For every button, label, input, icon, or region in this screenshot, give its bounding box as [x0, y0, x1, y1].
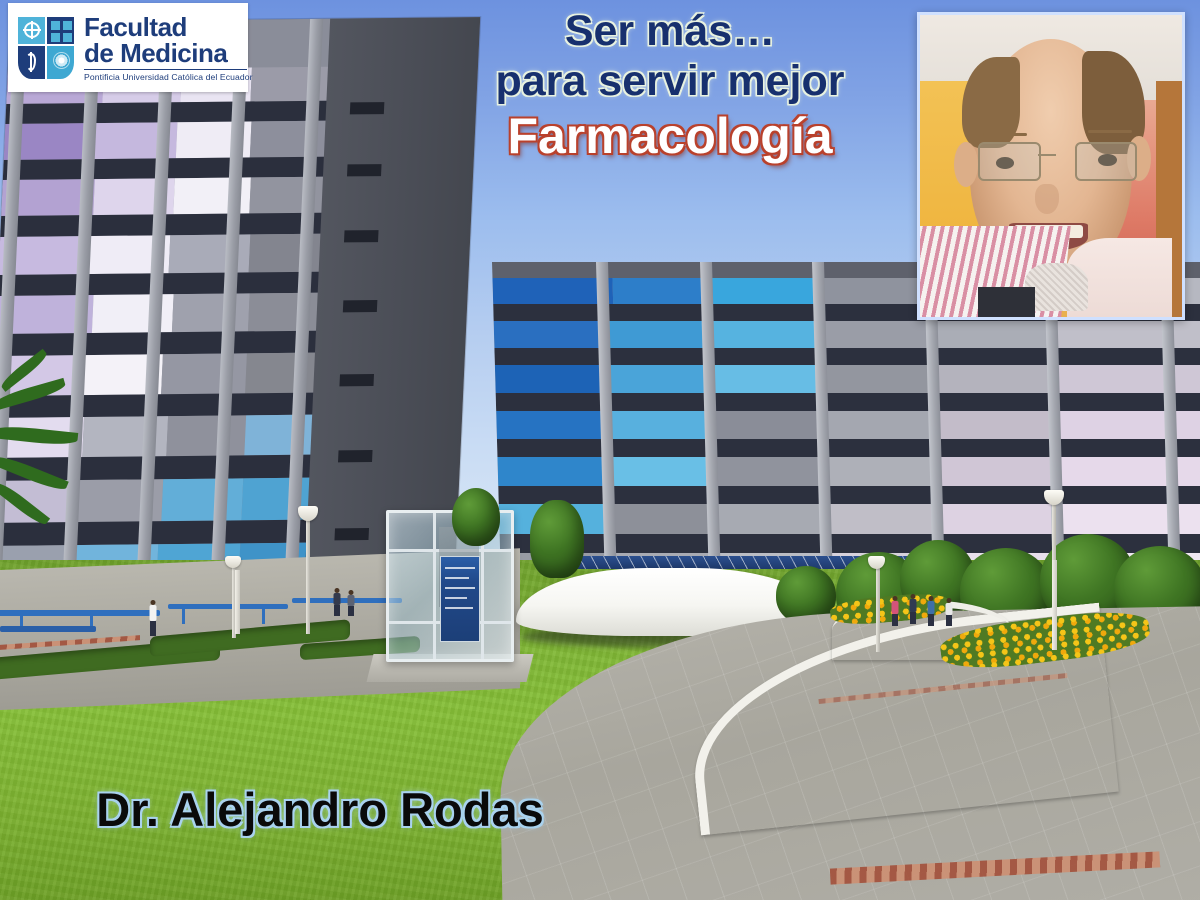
- pedestrian-legs: [334, 605, 340, 616]
- side-window: [339, 374, 374, 386]
- pedestrian: [346, 590, 355, 618]
- faculty-logo: Facultad de Medicina Pontificia Universi…: [8, 3, 248, 92]
- facade-panel: [713, 365, 826, 393]
- subject-title: Farmacología: [440, 109, 900, 163]
- author-name: Dr. Alejandro Rodas: [0, 786, 640, 833]
- asclepius-snake-icon: [26, 53, 36, 71]
- pedestrian: [332, 588, 341, 618]
- campus-directory-sign[interactable]: [440, 556, 480, 642]
- facade-panel: [495, 365, 610, 393]
- facade-panel: [172, 293, 250, 332]
- plaza-railing: [0, 610, 160, 616]
- facade-band: [0, 234, 330, 275]
- portrait-eyebrow-left: [983, 133, 1028, 136]
- directory-line: [445, 577, 469, 579]
- railing-post: [262, 604, 265, 624]
- facade-band: [0, 293, 328, 334]
- facade-panel: [937, 365, 1058, 393]
- directory-line: [445, 567, 475, 569]
- pedestrian: [148, 600, 158, 640]
- four-squares-icon: [51, 33, 60, 42]
- facade-panel: [824, 321, 935, 348]
- flag-pole: [1052, 560, 1057, 650]
- facade-panel: [717, 504, 830, 534]
- facade-panel: [829, 504, 942, 534]
- facade-panel: [609, 365, 714, 393]
- pedestrian-body: [150, 605, 157, 621]
- facade-panel: [609, 504, 718, 534]
- facade-panel: [938, 411, 1059, 439]
- pedestrian-body: [909, 599, 916, 612]
- side-window: [350, 102, 385, 114]
- lamp-post-pole: [306, 518, 310, 634]
- side-window: [343, 300, 378, 312]
- directory-line: [445, 607, 473, 609]
- side-window: [338, 450, 373, 462]
- facade-panel: [492, 278, 613, 304]
- four-squares-icon: [63, 33, 72, 42]
- logo-text-block: Facultad de Medicina Pontificia Universi…: [84, 14, 253, 82]
- side-window: [347, 164, 382, 176]
- presentation-slide: Facultad de Medicina Pontificia Universi…: [0, 0, 1200, 900]
- facade-panel: [496, 411, 605, 439]
- pedestrian: [908, 594, 917, 626]
- lamp-post-pole: [876, 566, 880, 652]
- pedestrian-legs: [892, 614, 898, 626]
- facade-panel: [609, 457, 716, 486]
- logo-subtitle: Pontificia Universidad Católica del Ecua…: [84, 72, 253, 82]
- facade-panel: [712, 278, 823, 304]
- shield-quadrant-compass: [18, 17, 45, 44]
- facade-panel: [1057, 365, 1200, 393]
- facade-panel: [939, 457, 1060, 486]
- facade-panel: [494, 321, 605, 348]
- facade-panel: [166, 415, 246, 456]
- title-block: Ser más… para servir mejor Farmacología: [440, 8, 900, 163]
- facade-panel: [250, 67, 338, 102]
- portrait-eyebrow-right: [1088, 130, 1133, 133]
- side-window: [344, 230, 379, 242]
- facade-panel: [497, 457, 610, 486]
- facade-panel: [161, 478, 243, 521]
- facade-panel: [825, 365, 938, 393]
- kiosk-frame-vertical: [433, 513, 436, 659]
- plaza-bench: [0, 626, 96, 632]
- flag-pole: [235, 570, 240, 634]
- pedestrian-legs: [150, 621, 156, 636]
- eyeglasses-lens-left-icon: [978, 142, 1041, 181]
- pedestrian-legs: [348, 606, 354, 616]
- pedestrian-legs: [910, 612, 916, 624]
- tree: [452, 488, 500, 546]
- motto-line-1: Ser más…: [440, 8, 900, 54]
- pedestrian: [926, 596, 935, 628]
- facade-panel: [1059, 457, 1200, 486]
- tree: [530, 500, 584, 578]
- logo-divider: [84, 69, 247, 70]
- directory-line: [445, 597, 467, 599]
- plaza-railing: [168, 604, 288, 609]
- facade-panel: [710, 321, 825, 348]
- pedestrian-body: [347, 595, 354, 606]
- pucе-medicine-shield-icon: [18, 17, 76, 79]
- portrait-foreground-object: [978, 287, 1036, 317]
- portrait-nose: [1035, 184, 1059, 214]
- facade-panel: [715, 457, 828, 486]
- pedestrian-body: [927, 601, 934, 614]
- side-window: [334, 528, 369, 540]
- eyeglasses-bridge-icon: [1038, 154, 1056, 156]
- compass-icon: [24, 22, 40, 38]
- directory-line: [445, 587, 475, 589]
- facade-panel: [612, 278, 713, 304]
- four-squares-icon: [63, 21, 72, 30]
- pedestrian-body: [891, 601, 898, 614]
- facade-panel: [161, 353, 247, 394]
- logo-line-2: de Medicina: [84, 40, 253, 66]
- pedestrian-body: [945, 603, 952, 615]
- pedestrian-body: [333, 593, 340, 605]
- facade-panel: [250, 121, 336, 158]
- facade-panel: [712, 411, 827, 439]
- railing-post: [182, 604, 185, 624]
- pedestrian: [890, 596, 899, 628]
- facade-panel: [827, 457, 940, 486]
- portrait-ear-left: [954, 142, 978, 187]
- sun-emblem-icon: [54, 53, 69, 68]
- facade-panel: [934, 321, 1055, 348]
- facade-panel: [249, 177, 333, 214]
- facade-panel: [604, 411, 713, 439]
- facade-panel: [1058, 411, 1200, 439]
- four-squares-icon: [51, 21, 60, 30]
- facade-panel: [826, 411, 939, 439]
- motto-line-2: para servir mejor: [440, 58, 900, 104]
- shield-quadrant-squares: [47, 17, 74, 44]
- facade-panel: [604, 321, 711, 348]
- portrait-photo: [917, 12, 1185, 320]
- pedestrian: [944, 598, 953, 628]
- logo-line-1: Facultad: [84, 14, 253, 40]
- eyeglasses-lens-right-icon: [1075, 142, 1138, 181]
- pedestrian-legs: [928, 614, 934, 626]
- facade-panel: [1054, 321, 1200, 348]
- facade-panel: [941, 504, 1062, 534]
- pedestrian-legs: [946, 615, 952, 626]
